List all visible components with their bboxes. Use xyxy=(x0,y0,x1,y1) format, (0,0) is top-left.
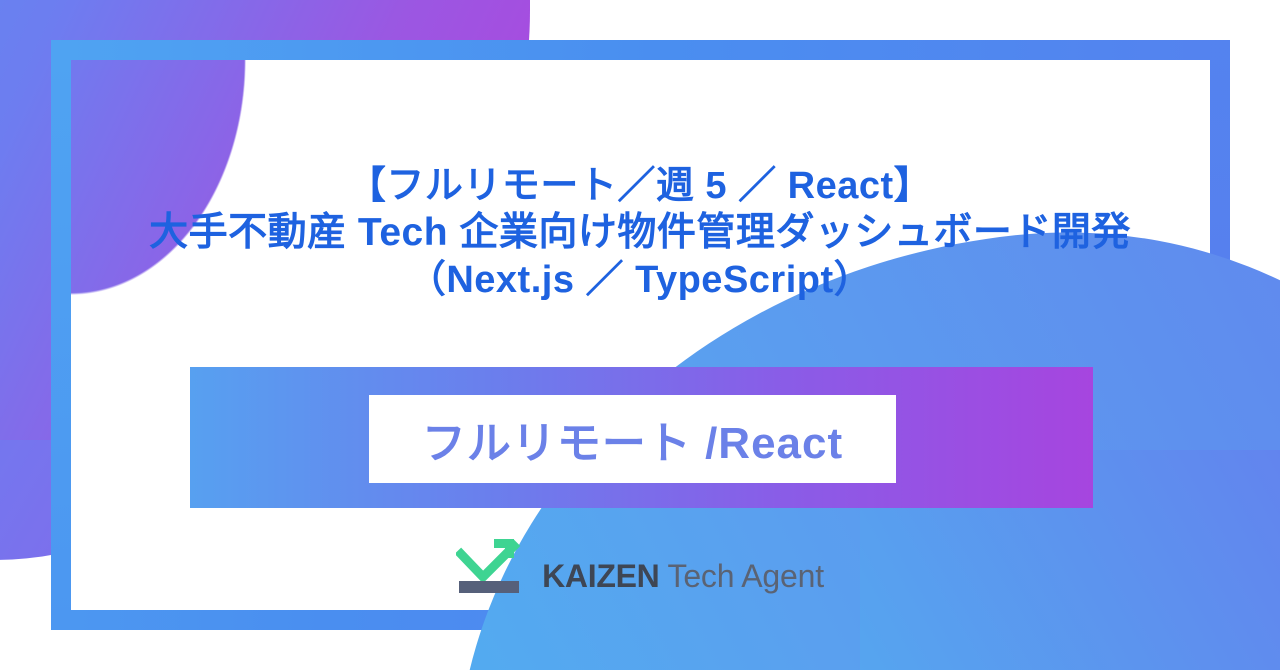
growth-arrow-icon xyxy=(456,534,528,596)
job-card-canvas: 【フルリモート／週 5 ／ React】 大手不動産 Tech 企業向け物件管理… xyxy=(0,0,1280,670)
title-line-3: （Next.js ／ TypeScript） xyxy=(0,257,1280,303)
title-line-2: 大手不動産 Tech 企業向け物件管理ダッシュボード開発 xyxy=(0,209,1280,257)
title-line-1: 【フルリモート／週 5 ／ React】 xyxy=(0,163,1280,209)
brand-logo: KAIZEN Tech Agent xyxy=(0,534,1280,596)
card-content: 【フルリモート／週 5 ／ React】 大手不動産 Tech 企業向け物件管理… xyxy=(0,0,1280,670)
highlight-badge-label: フルリモート /React xyxy=(422,407,843,471)
brand-name: KAIZEN xyxy=(542,558,659,594)
brand-wordmark: KAIZEN Tech Agent xyxy=(542,560,824,596)
highlight-badge: フルリモート /React xyxy=(369,395,896,483)
highlight-banner: フルリモート /React xyxy=(190,367,1093,508)
page-title: 【フルリモート／週 5 ／ React】 大手不動産 Tech 企業向け物件管理… xyxy=(0,163,1280,303)
brand-suffix: Tech Agent xyxy=(659,558,823,594)
